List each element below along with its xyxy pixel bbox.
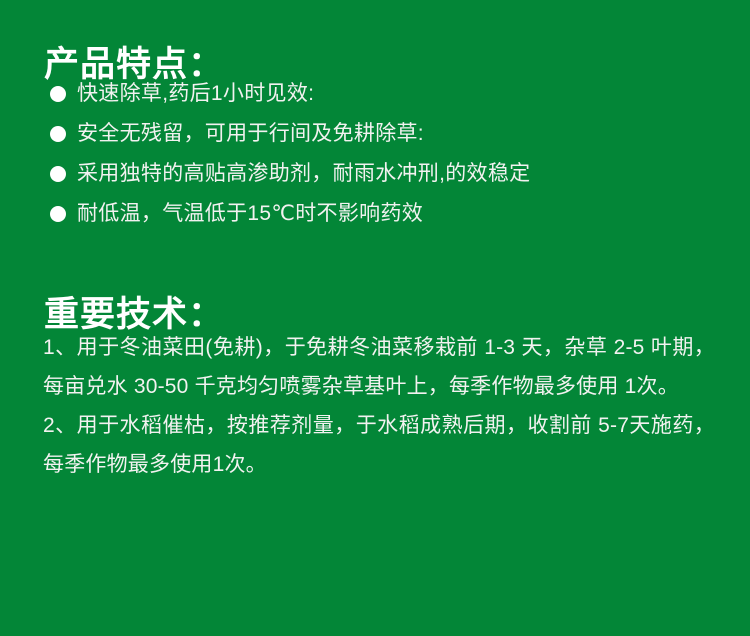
bullet-circle-icon <box>50 206 66 222</box>
feature-text: 耐低温，气温低于15℃时不影响药效 <box>77 194 423 234</box>
feature-text: 采用独特的高贴高渗助剂，耐雨水冲刑,的效稳定 <box>77 154 530 194</box>
product-features-list: 快速除草,药后1小时见效: 安全无残留，可用于行间及免耕除草: 采用独特的高贴高… <box>50 74 740 234</box>
list-item: 快速除草,药后1小时见效: <box>50 74 740 114</box>
bullet-circle-icon <box>50 126 66 142</box>
feature-text: 安全无残留，可用于行间及免耕除草: <box>77 114 424 154</box>
list-item: 采用独特的高贴高渗助剂，耐雨水冲刑,的效稳定 <box>50 154 740 194</box>
technique-paragraph: 1、用于冬油菜田(免耕)，于免耕冬油菜移栽前 1-3 天，杂草 2-5 叶期，每… <box>43 328 715 406</box>
technique-paragraph: 2、用于水稻催枯，按推荐剂量，于水稻成熟后期，收割前 5-7天施药，每季作物最多… <box>43 406 715 484</box>
list-item: 耐低温，气温低于15℃时不影响药效 <box>50 194 740 234</box>
important-technique-body: 1、用于冬油菜田(免耕)，于免耕冬油菜移栽前 1-3 天，杂草 2-5 叶期，每… <box>43 328 715 484</box>
list-item: 安全无残留，可用于行间及免耕除草: <box>50 114 740 154</box>
product-info-banner: 产品特点： 快速除草,药后1小时见效: 安全无残留，可用于行间及免耕除草: 采用… <box>0 0 750 636</box>
feature-text: 快速除草,药后1小时见效: <box>77 74 314 114</box>
bullet-circle-icon <box>50 166 66 182</box>
bullet-circle-icon <box>50 86 66 102</box>
